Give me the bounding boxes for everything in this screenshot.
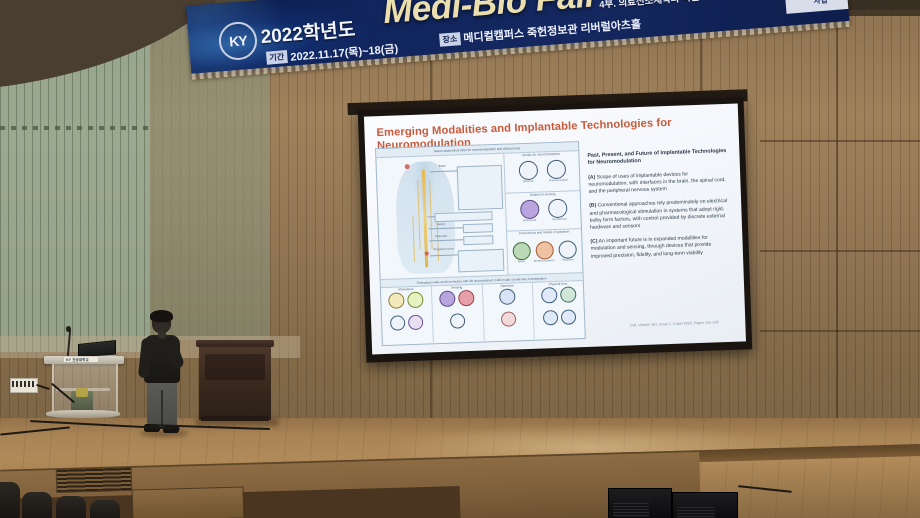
wired-icon — [512, 242, 531, 261]
figure-bottom-panel: Modulation Sensing — [381, 279, 585, 344]
icon-label: Persistent — [555, 258, 581, 262]
wall-seam — [836, 0, 838, 470]
podium-nameplate-text: KY 건양대학교 — [66, 357, 89, 362]
piano-base — [201, 416, 269, 421]
callout-label-peripheral: Peripheral nerve — [434, 247, 455, 252]
floor-monitor-speaker — [672, 492, 738, 518]
piano-lid — [196, 340, 274, 347]
banner-date-tag: 기간 — [266, 50, 288, 65]
electrical-mod-icon — [388, 292, 405, 309]
callout-brain — [457, 165, 504, 211]
presenter-leg-split — [161, 390, 163, 428]
paragraph-label: (C) — [590, 239, 597, 245]
modes-modulation-section: Modes for neuromodulation Electrical Pha… — [504, 150, 579, 194]
paragraph-text: An important future is in expanded modal… — [591, 235, 712, 259]
paragraph-label: (A) — [588, 174, 595, 180]
wireless-transmission-icon — [499, 288, 516, 305]
paragraph-text: Conventional approaches rely predominate… — [589, 198, 727, 230]
audience-seat — [22, 492, 52, 518]
transient-bioresorbable-icon — [542, 310, 558, 326]
callout-spinal-cord — [434, 211, 492, 222]
figure-anatomy-panel: Brain Sacral Pudendal Peripheral nerve — [376, 153, 508, 279]
closed-loop-icon — [501, 311, 517, 327]
audience-seat — [0, 482, 20, 518]
icon-label: Wired — [509, 260, 533, 264]
piano-front-panel — [205, 354, 265, 380]
callout-label-pudendal: Pudendal — [435, 234, 447, 238]
wireless-powered-icon — [535, 241, 554, 260]
mechanical-compliant-icon — [541, 287, 558, 304]
icon-label: Biochemical — [543, 217, 577, 221]
front-table — [132, 486, 245, 518]
wall-seam — [760, 140, 920, 142]
speaker-grille — [613, 503, 649, 517]
text-block-heading: Past, Present, and Future of Implantable… — [587, 148, 727, 168]
paragraph-text: Scope of uses of implantable devices for… — [588, 171, 725, 195]
biochemical-sense-icon — [458, 290, 475, 307]
biophysical-sense-icon — [439, 291, 456, 308]
auditorium-photo: KY 2022학년도 Medi-Bio Fair 기간 2022.11.17(목… — [0, 0, 920, 518]
pharmacological-icon — [547, 160, 567, 180]
bottom-col-physical-form: Physical form — [533, 279, 585, 339]
bottom-col-modulation: Modulation — [381, 284, 434, 344]
icon-label: Biophysical — [515, 218, 545, 222]
presenter-hand-microphone — [158, 330, 166, 339]
modes-sensing-section: Modes for sensing Biophysical Biochemica… — [506, 190, 581, 232]
paragraph-c: (C) An important future is in expanded m… — [590, 234, 731, 260]
persistent-icon — [558, 240, 577, 259]
slide-text-block: Past, Present, and Future of Implantable… — [587, 148, 731, 268]
paragraph-a: (A) Scope of uses of implantable devices… — [588, 170, 729, 196]
modes-operation-section: Connections and modes of operation Wired… — [507, 228, 582, 275]
callout-sacral — [463, 223, 493, 233]
presenter — [134, 312, 190, 436]
callout-peripheral-nerve — [458, 249, 505, 273]
electrical-icon — [519, 161, 539, 181]
bottom-col-operation: Operation — [482, 281, 535, 341]
wall-rail — [0, 126, 150, 130]
icon-label: Pharmacological — [541, 178, 575, 182]
presenter-hair — [150, 310, 173, 322]
audience-seat — [90, 500, 120, 518]
banner-place-tag: 장소 — [439, 32, 461, 47]
callout-label-brain: Brain — [439, 164, 446, 168]
podium-emblem-mark-icon — [76, 388, 88, 397]
floor-monitor-speaker — [608, 488, 672, 518]
biochemical-icon — [548, 199, 568, 219]
bottom-col-sensing: Sensing — [432, 283, 485, 343]
presentation-slide: Emerging Modalities and Implantable Tech… — [364, 104, 746, 355]
biophysical-icon — [520, 200, 540, 220]
figure-modes-panel: Modes for neuromodulation Electrical Pha… — [504, 150, 582, 275]
paragraph-label: (B) — [589, 203, 596, 209]
lectern-podium: KY 건양대학교 — [44, 344, 124, 422]
slide-citation: Cell, Volume 181, Issue 1, 2 April 2020,… — [615, 320, 733, 328]
icon-label: Electrical — [513, 179, 543, 183]
paragraph-b: (B) Conventional approaches rely predomi… — [589, 198, 730, 232]
anatomically-conformal-icon — [560, 286, 577, 303]
callout-label-sacral: Sacral — [437, 222, 445, 226]
speaker-grille — [677, 507, 715, 518]
podium-base — [46, 410, 120, 418]
wall-seam — [760, 330, 920, 332]
microphone-icon — [66, 326, 71, 332]
wall-seam — [760, 250, 920, 252]
callout-pudendal — [463, 235, 493, 245]
upright-piano — [196, 340, 274, 422]
pharmacological-mod-icon — [390, 315, 406, 331]
optical-mod-icon — [407, 292, 424, 309]
multimodal-sense-icon — [450, 313, 466, 329]
icon-label: Wireless powered — [532, 259, 556, 263]
slide-figure: Neuro-anatomical sites for neuromodulati… — [375, 141, 586, 346]
thermal-mechanical-icon — [408, 315, 424, 331]
stage-vent-grille — [56, 467, 133, 493]
wall-outlet-sockets — [12, 381, 34, 387]
audience-seat — [56, 496, 86, 518]
biointegrated-icon — [560, 309, 576, 325]
projection-screen: Emerging Modalities and Implantable Tech… — [358, 97, 753, 362]
